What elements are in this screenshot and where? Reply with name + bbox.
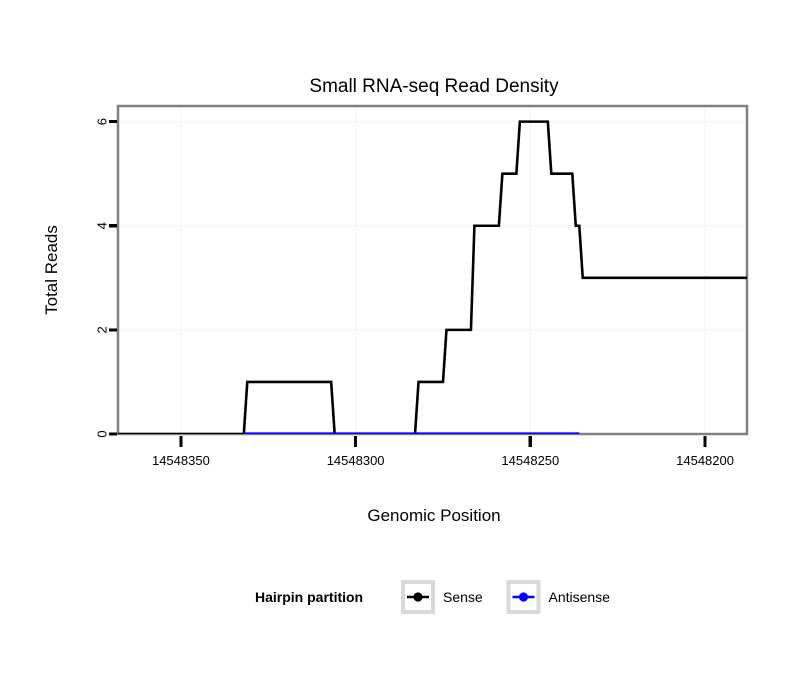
plot-panel (118, 106, 747, 434)
y-tick-label: 2 (95, 326, 110, 333)
line-dot-icon (413, 592, 422, 601)
legend-entry-label: Antisense (549, 589, 611, 605)
y-tick-label: 4 (95, 222, 110, 229)
legend-entry-label: Sense (443, 589, 483, 605)
x-tick-label: 14548250 (501, 453, 559, 468)
x-tick-label: 14548300 (327, 453, 385, 468)
page-title: Small RNA-seq Read Density (309, 76, 559, 97)
legend-title: Hairpin partition (255, 589, 363, 605)
line-dot-icon (519, 592, 528, 601)
x-axis-title: Genomic Position (367, 506, 500, 525)
x-tick-label: 14548200 (676, 453, 734, 468)
x-tick-label: 14548350 (152, 453, 210, 468)
y-axis-title: Total Reads (42, 225, 61, 315)
plot-panel-background (118, 106, 747, 434)
y-tick-label: 0 (95, 430, 110, 437)
chart-figure: Small RNA-seq Read Density 0246 14548350… (0, 0, 810, 690)
y-tick-label: 6 (95, 118, 110, 125)
